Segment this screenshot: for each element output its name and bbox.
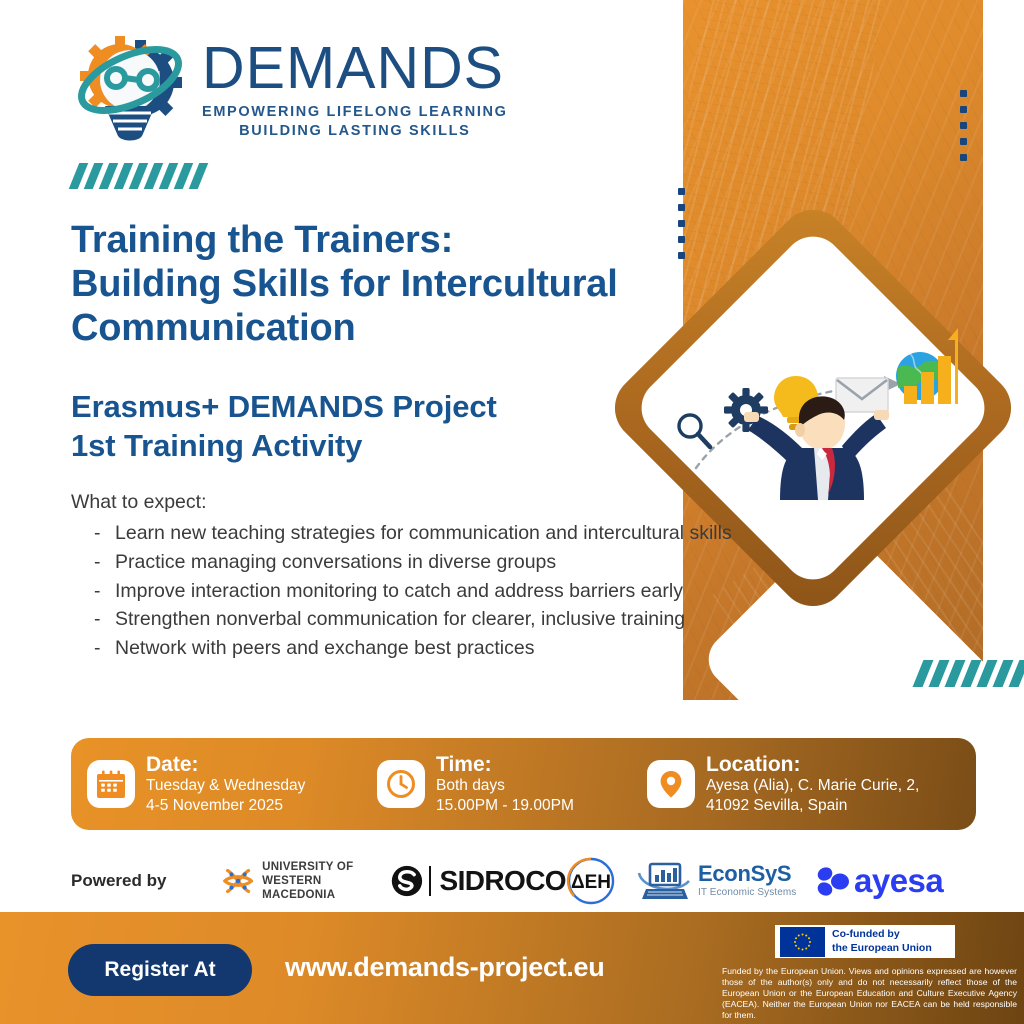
partner-logo-sidroco: SIDROCO [391,861,566,901]
list-item: Improve interaction monitoring to catch … [94,578,761,606]
eu-flag-icon [780,927,825,957]
info-location-label: Location: [706,753,919,777]
powered-by-label: Powered by [71,871,221,891]
mail-icon [836,378,888,412]
globe-icon [896,352,944,400]
event-info-bar: Date: Tuesday & Wednesday 4-5 November 2… [71,738,976,830]
sidroco-divider [429,866,431,896]
expectations-lead: What to expect: [71,490,761,515]
ayesa-wordmark: ayesa [854,866,943,896]
title-line-1: Training the Trainers: [71,218,671,262]
title-line-3: Communication [71,306,671,350]
sidroco-wordmark: SIDROCO [440,865,566,897]
logo-tagline-line-1: EMPOWERING LIFELONG LEARNING [202,103,508,122]
stripe-decor-bottom-right [918,660,1024,687]
ayesa-mark-icon [816,865,850,897]
partner-logo-econsys: EconSyS IT Economic Systems [636,859,816,903]
subtitle-line-1: Erasmus+ DEMANDS Project [71,388,671,427]
dot-column-left [678,188,685,259]
info-time: Time: Both days 15.00PM - 19.00PM [377,753,647,816]
info-location-line-1: Ayesa (Alia), C. Marie Curie, 2, [706,776,919,796]
svg-text:ΔΕΗ: ΔΕΗ [571,872,611,893]
info-date: Date: Tuesday & Wednesday 4-5 November 2… [87,753,377,816]
demands-logo: DEMANDS EMPOWERING LIFELONG LEARNING BUI… [72,28,508,152]
sidroco-mark-icon [391,861,423,901]
list-item: Learn new teaching strategies for commun… [94,520,761,548]
info-time-line-2: 15.00PM - 19.00PM [436,796,574,816]
demands-logo-mark [72,28,196,152]
logo-wordmark: DEMANDS [202,39,508,98]
info-location-line-2: 41092 Sevilla, Spain [706,796,919,816]
info-date-line-1: Tuesday & Wednesday [146,776,305,796]
dot-column-right [960,90,967,161]
map-pin-icon [647,760,695,808]
info-time-label: Time: [436,753,574,777]
calendar-icon [87,760,135,808]
partner-logo-uwm: UNIVERSITY OF WESTERN MACEDONIA [221,860,391,902]
project-website-link[interactable]: www.demands-project.eu [285,952,604,983]
dei-mark-icon: ΔΕΗ [566,856,616,906]
event-poster: DEMANDS EMPOWERING LIFELONG LEARNING BUI… [0,0,1024,1024]
list-item: Practice managing conversations in diver… [94,549,761,577]
stripe-decor-top-left [74,163,203,189]
expectations-list: Learn new teaching strategies for commun… [71,520,761,662]
list-item: Strengthen nonverbal communication for c… [94,606,761,634]
list-item: Network with peers and exchange best pra… [94,635,761,663]
eu-cofunded-badge: Co-funded by the European Union [775,925,955,958]
page-subtitle: Erasmus+ DEMANDS Project 1st Training Ac… [71,388,671,466]
search-icon [679,415,710,447]
page-title: Training the Trainers: Building Skills f… [71,218,671,350]
info-date-line-2: 4-5 November 2025 [146,796,305,816]
eu-badge-line-1: Co-funded by [832,928,932,941]
partner-logo-dei: ΔΕΗ [566,856,636,906]
partner-logos-row: Powered by UNIVERSITY OF [71,852,981,910]
uwm-name-line-2: WESTERN MACEDONIA [262,874,391,902]
expectations-section: What to expect: Learn new teaching strat… [71,490,761,664]
partner-logo-ayesa: ayesa [816,865,943,897]
econsys-mark-icon [636,859,692,903]
title-line-2: Building Skills for Intercultural [71,262,671,306]
econsys-tagline: IT Economic Systems [698,885,796,900]
eu-badge-line-2: the European Union [832,942,932,955]
info-location: Location: Ayesa (Alia), C. Marie Curie, … [647,753,976,816]
subtitle-line-2: 1st Training Activity [71,427,671,466]
clock-icon [377,760,425,808]
uwm-mark-icon [221,863,255,899]
info-time-line-1: Both days [436,776,574,796]
info-date-label: Date: [146,753,305,777]
econsys-wordmark: EconSyS [698,863,796,885]
register-button[interactable]: Register At [68,944,252,996]
logo-tagline-line-2: BUILDING LASTING SKILLS [202,122,508,141]
uwm-name-line-1: UNIVERSITY OF [262,860,391,874]
eu-funding-disclaimer: Funded by the European Union. Views and … [722,966,1017,1021]
